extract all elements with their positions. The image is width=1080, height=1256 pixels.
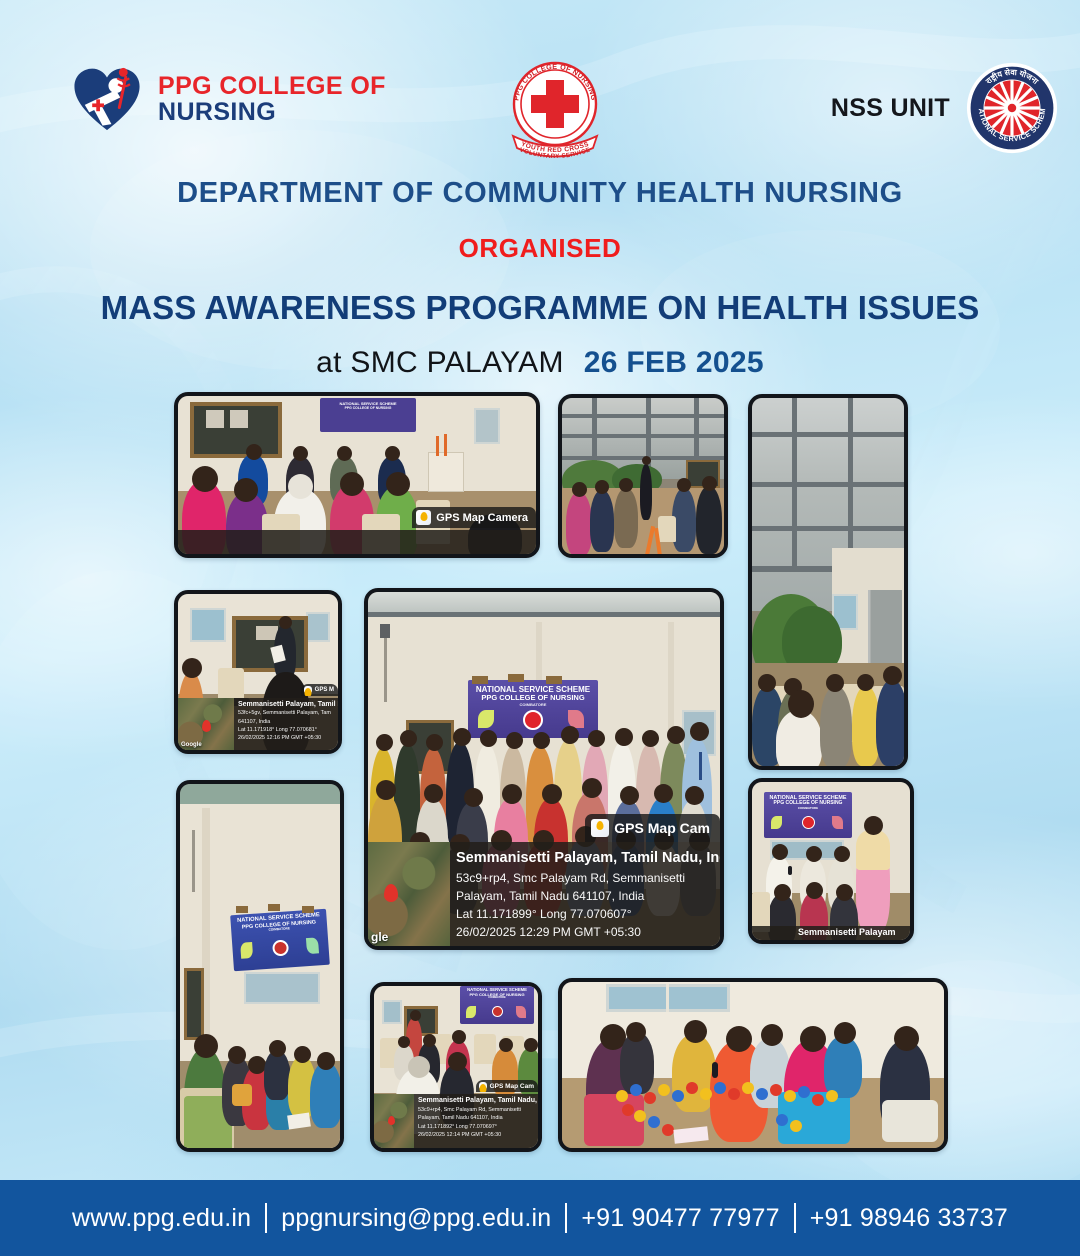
gps-line1: 53fc+5gv, Semmanisetti Palayam, Tam [238, 709, 336, 717]
nss-banner-bottom: NATIONAL SERVICE SCHEME PPG COLLEGE OF N… [460, 986, 534, 1024]
gps-app-icon [479, 1082, 487, 1090]
gps-title: Semmanisetti Palayam, Tamil Nadu, Ind [456, 848, 718, 869]
nss-banner-small: NATIONAL SERVICE SCHEME PPG COLLEGE OF N… [764, 792, 852, 838]
ppg-logo-line2: NURSING [158, 99, 386, 126]
gps-line1: 53c9+rp4, Smc Palayam Rd, Semmanisetti [456, 869, 718, 887]
gps-app-label: GPS Map Cam [490, 1083, 534, 1090]
event-date: 26 FEB 2025 [584, 346, 764, 380]
venue-label: at SMC PALAYAM [316, 346, 564, 380]
gps-line2: Palayam, Tamil Nadu 641107, India [456, 887, 718, 905]
gps-app-label: GPS M [315, 687, 334, 693]
gps-mini-map: gle [368, 842, 450, 946]
gps-map-camera-badge: GPS Map Camera [412, 507, 536, 528]
page-header: PPG COLLEGE OF NURSING PPG COLLEGE OF NU… [0, 0, 1080, 170]
gps-info-panel-main: gle Semmanisetti Palayam, Tamil Nadu, In… [368, 842, 720, 946]
photo-group-nss-banner[interactable]: NATIONAL SERVICE SCHEME PPG COLLEGE OF N… [364, 588, 724, 950]
gps-mini-map [374, 1094, 414, 1148]
photo-students-garland[interactable] [558, 978, 948, 1152]
photo-audience-hall[interactable] [748, 394, 908, 770]
footer-website[interactable]: www.ppg.edu.in [72, 1204, 251, 1233]
gps-title: Semmanisetti Palayam, Tamil Nadu, Ind [418, 1096, 536, 1106]
gps-app-icon [416, 510, 431, 525]
photo-seated-audience-gps[interactable]: NATIONAL SERVICE SCHEME PPG COLLEGE OF N… [370, 982, 542, 1152]
gps-map-camera-badge-main: GPS Map Cam [585, 814, 720, 842]
photo-outdoor-shed[interactable] [558, 394, 728, 558]
banner-line2: PPG COLLEGE OF NURSING [320, 407, 416, 411]
nss-unit-block: NSS UNIT [831, 62, 1058, 154]
gps-line3: Lat 11.171892° Long 77.070697° [418, 1123, 536, 1131]
programme-title: MASS AWARENESS PROGRAMME ON HEALTH ISSUE… [0, 289, 1080, 327]
map-pin-icon [388, 1116, 395, 1125]
footer-divider [265, 1203, 267, 1233]
gps-app-label: GPS Map Camera [436, 512, 528, 524]
gps-line2: 641107, India [238, 718, 336, 726]
nss-unit-label: NSS UNIT [831, 94, 950, 123]
venue-and-date: at SMC PALAYAM 26 FEB 2025 [0, 346, 1080, 380]
google-watermark: gle [371, 930, 388, 944]
footer-contact-row: www.ppg.edu.in ppgnursing@ppg.edu.in +91… [72, 1203, 1008, 1233]
banner-line3: COIMBATORE [764, 807, 852, 810]
footer-email[interactable]: ppgnursing@ppg.edu.in [281, 1204, 551, 1233]
banner-line3: COIMBATORE [468, 703, 598, 708]
gps-line3: Lat 11.171899° Long 77.070607° [456, 905, 718, 923]
footer-phone-1[interactable]: +91 90477 77977 [581, 1204, 779, 1233]
gps-line4: 26/02/2025 12:16 PM GMT +05:30 [238, 734, 336, 742]
footer-divider [794, 1203, 796, 1233]
photo-classroom-blackboard[interactable]: GPS M Google Semmanisetti Palayam, Tamil… [174, 590, 342, 754]
gps-line4: 26/02/2025 12:14 PM GMT +05:30 [418, 1131, 536, 1139]
nss-chakra-icon: राष्ट्रीय सेवा योजना NATIONAL SERVICE SC… [966, 62, 1058, 154]
gps-info-panel [178, 530, 536, 554]
gps-info-panel-classroom: Google Semmanisetti Palayam, Tamil Na 53… [178, 698, 338, 750]
footer-phone-2[interactable]: +91 98946 33737 [810, 1204, 1008, 1233]
footer-divider [565, 1203, 567, 1233]
ppg-logo-text: PPG COLLEGE OF NURSING [158, 73, 386, 126]
department-line: DEPARTMENT OF COMMUNITY HEALTH NURSING [0, 176, 1080, 211]
gps-info-panel-right-small: Semmanisetti Palayam [752, 926, 910, 940]
decorative-garland [614, 1074, 864, 1146]
gps-app-icon [591, 819, 609, 837]
gps-title: Semmanisetti Palayam, Tamil Na [238, 700, 336, 709]
gps-app-label: GPS Map Cam [614, 820, 710, 836]
map-pin-icon [384, 884, 398, 902]
heart-nurse-caduceus-icon [70, 62, 144, 136]
gps-title: Semmanisetti Palayam [798, 926, 908, 940]
youth-red-cross-icon: PPG COLLEGE OF NURSING YOUTH RED CROSS V… [505, 56, 605, 160]
google-watermark: Google [181, 742, 202, 748]
gps-line1: 53c9+rp4, Smc Palayam Rd, Semmanisetti [418, 1106, 536, 1114]
title-block: DEPARTMENT OF COMMUNITY HEALTH NURSING O… [0, 176, 1080, 380]
banner-line3: COIMBATORE [460, 997, 534, 1000]
photo-nurses-presenting[interactable]: NATIONAL SERVICE SCHEME PPG COLLEGE OF N… [748, 778, 914, 944]
gps-line2: Palayam, Tamil Nadu 641107, India [418, 1114, 536, 1122]
gps-app-icon [304, 686, 312, 694]
ppg-logo-line1: PPG COLLEGE OF [158, 73, 386, 100]
photo-indoor-session[interactable]: NATIONAL SERVICE SCHEME PPG COLLEGE OF N… [174, 392, 540, 558]
gps-line3: Lat 11.171918° Long 77.070681° [238, 726, 336, 734]
gps-info-panel-bottom: Semmanisetti Palayam, Tamil Nadu, Ind 53… [374, 1094, 538, 1148]
map-pin-icon [202, 720, 211, 732]
gps-map-camera-badge-small: GPS M [301, 684, 338, 696]
contact-footer: www.ppg.edu.in ppgnursing@ppg.edu.in +91… [0, 1180, 1080, 1256]
gps-line4: 26/02/2025 12:29 PM GMT +05:30 [456, 923, 718, 941]
gps-mini-map: Google [178, 698, 234, 750]
gps-map-camera-badge-bottom: GPS Map Cam [476, 1080, 538, 1092]
ppg-college-logo: PPG COLLEGE OF NURSING [70, 62, 386, 136]
photo-floor-audience-banner[interactable]: NATIONAL SERVICE SCHEME PPG COLLEGE OF N… [176, 780, 344, 1152]
organised-line: ORGANISED [0, 233, 1080, 264]
nss-banner-left: NATIONAL SERVICE SCHEME PPG COLLEGE OF N… [230, 909, 330, 972]
